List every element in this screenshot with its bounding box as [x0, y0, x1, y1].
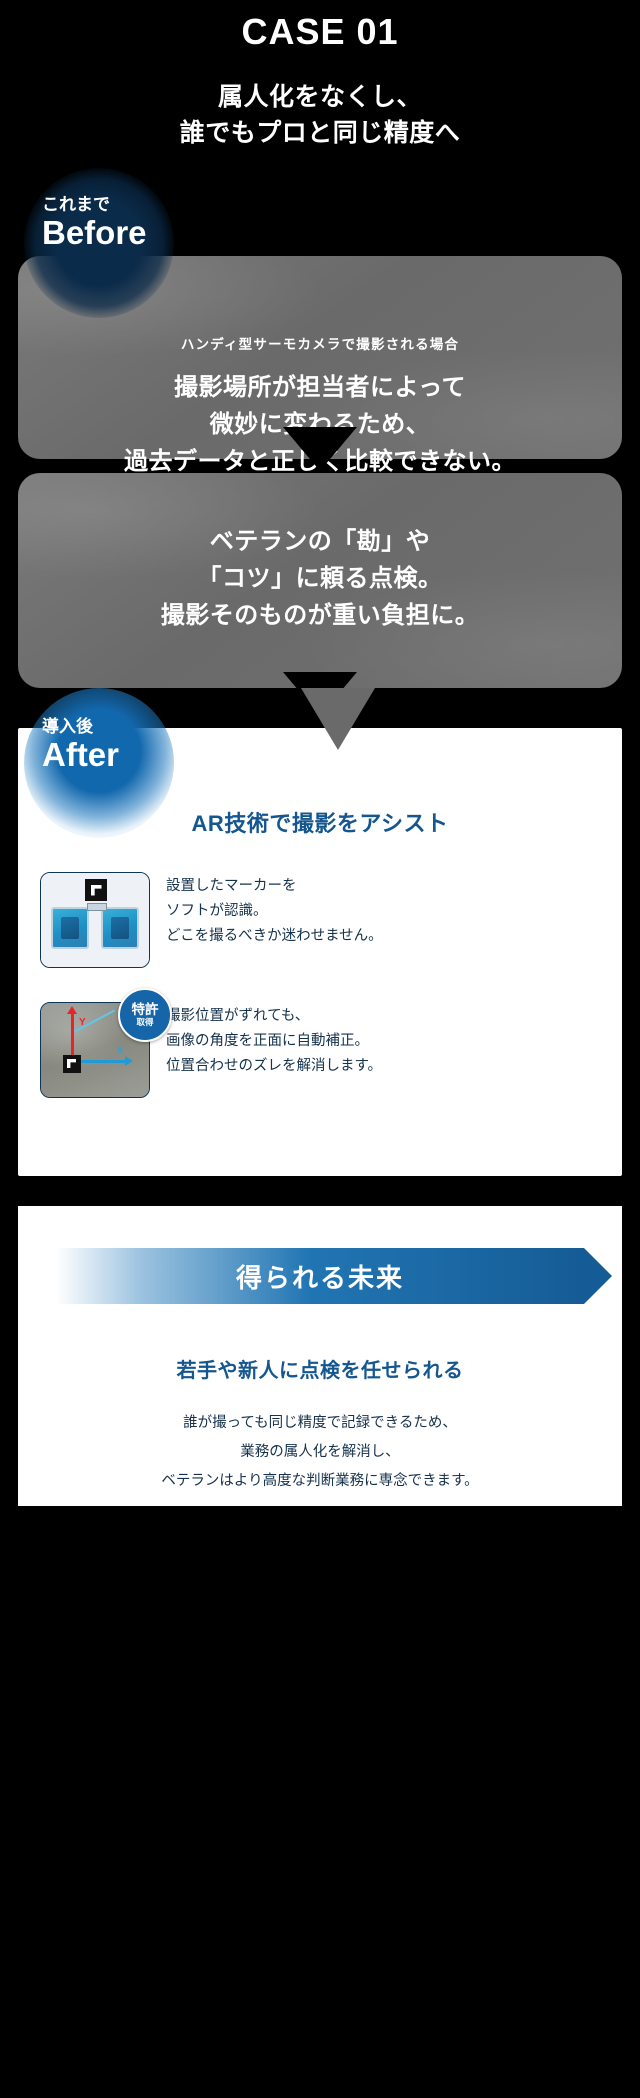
future-body: 誰が撮っても同じ精度で記録できるため、 業務の属人化を解消し、 ベテランはより高…	[18, 1409, 622, 1496]
future-heading: 若手や新人に点検を任せられる	[18, 1354, 622, 1383]
after-card-1: 設置したマーカーを ソフトが認識。 どこを撮るべきか迷わせません。	[40, 872, 622, 968]
after-badge: 導入後 After	[24, 688, 174, 838]
future-body-line-3: ベテランはより高度な判断業務に専念できます。	[36, 1467, 604, 1496]
future-body-line-2: 業務の属人化を解消し、	[36, 1438, 604, 1467]
after-card-1-text-line-2: ソフトが認識。	[166, 899, 383, 924]
thermal-panel-left-icon	[51, 907, 89, 949]
axis-x-label: X	[117, 1045, 123, 1055]
ar-marker-icon	[85, 879, 107, 901]
future-banner-label: 得られる未来	[236, 1258, 404, 1295]
before-panel-2-body: ベテランの「勘」や 「コツ」に頼る点検。 撮影そのものが重い負担に。	[40, 523, 600, 635]
patent-badge: 特許 取得	[118, 988, 172, 1042]
before-panel-1-body-line-1: 撮影場所が担当者によって	[40, 369, 600, 406]
after-card-2-text: 撮影位置がずれても、 画像の角度を正面に自動補正。 位置合わせのズレを解消します…	[166, 1002, 382, 1079]
before-panel-2-body-line-1: ベテランの「勘」や	[40, 523, 600, 560]
before-badge-text: これまで Before	[24, 196, 174, 251]
patent-badge-line-2: 取得	[136, 1018, 153, 1027]
before-panel-1-kicker: ハンディ型サーモカメラで撮影される場合	[40, 336, 600, 355]
case-study-page: CASE 01 属人化をなくし、 誰でもプロと同じ精度へ ハンディ型サーモカメラ…	[0, 0, 640, 2098]
case-subtitle: 属人化をなくし、 誰でもプロと同じ精度へ	[0, 79, 640, 152]
ar-marker-icon-2	[63, 1055, 81, 1073]
page-header: CASE 01 属人化をなくし、 誰でもプロと同じ精度へ	[0, 0, 640, 152]
after-badge-label: After	[42, 738, 174, 773]
before-panel-2: ベテランの「勘」や 「コツ」に頼る点検。 撮影そのものが重い負担に。	[18, 473, 622, 688]
after-card-2-text-line-1: 撮影位置がずれても、	[166, 1004, 382, 1029]
axis-x-arrow	[74, 1060, 126, 1063]
case-subtitle-line-2: 誰でもプロと同じ精度へ	[0, 115, 640, 151]
thermal-panel-right-icon	[101, 907, 139, 949]
after-badge-text: 導入後 After	[24, 718, 174, 773]
after-card-2: Y X 特許 取得 撮影位置がずれても、 画像の角度を正面に自動補正。 位置合わ…	[40, 1002, 622, 1098]
after-card-1-text-line-3: どこを撮るべきか迷わせません。	[166, 924, 383, 949]
before-badge-label: Before	[42, 216, 174, 251]
marker-recognition-thumbnail	[40, 872, 150, 968]
before-panel-2-body-line-3: 撮影そのものが重い負担に。	[40, 597, 600, 634]
before-connector-triangle-1	[283, 427, 357, 471]
future-banner: 得られる未来	[56, 1248, 584, 1304]
before-badge: これまで Before	[24, 168, 174, 318]
case-title: CASE 01	[0, 10, 640, 53]
after-card-1-text-line-1: 設置したマーカーを	[166, 874, 383, 899]
after-badge-kicker: 導入後	[42, 718, 174, 735]
before-badge-kicker: これまで	[42, 196, 174, 213]
future-section: 得られる未来 若手や新人に点検を任せられる 誰が撮っても同じ精度で記録できるため…	[18, 1206, 622, 1506]
patent-badge-line-1: 特許	[132, 1003, 159, 1017]
after-card-1-text: 設置したマーカーを ソフトが認識。 どこを撮るべきか迷わせません。	[166, 872, 383, 949]
after-card-2-text-line-3: 位置合わせのズレを解消します。	[166, 1054, 382, 1079]
case-subtitle-line-1: 属人化をなくし、	[0, 79, 640, 115]
after-card-2-text-line-2: 画像の角度を正面に自動補正。	[166, 1029, 382, 1054]
after-connector-triangle	[301, 688, 375, 750]
before-panel-2-content: ベテランの「勘」や 「コツ」に頼る点検。 撮影そのものが重い負担に。	[18, 473, 622, 635]
future-body-line-1: 誰が撮っても同じ精度で記録できるため、	[36, 1409, 604, 1438]
before-panel-2-body-line-2: 「コツ」に頼る点検。	[40, 560, 600, 597]
axis-y-label: Y	[79, 1017, 86, 1028]
marker-tag-icon	[87, 903, 107, 911]
